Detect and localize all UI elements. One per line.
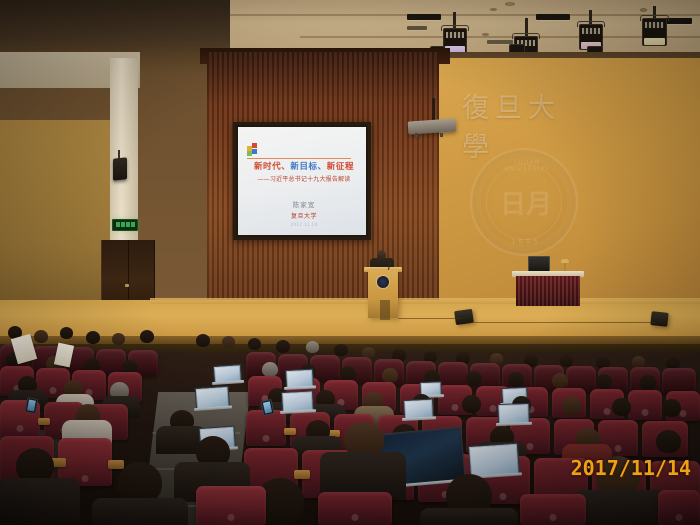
audience-head: [382, 368, 398, 383]
audience-laptop[interactable]: [403, 399, 432, 418]
stage-cable: [470, 322, 656, 323]
ceiling-beam: [0, 0, 230, 56]
auditorium-seat[interactable]: [196, 486, 266, 525]
projector-foot: [415, 133, 418, 137]
exit-sign-led: [116, 222, 120, 227]
audience-head: [196, 334, 210, 347]
audience-head: [140, 330, 154, 343]
audience-head: [596, 374, 612, 389]
light-barn-door: [645, 22, 664, 28]
seat-armrest: [38, 418, 50, 425]
audience-head: [662, 399, 681, 417]
audience-head: [34, 330, 48, 343]
audience-head: [466, 371, 482, 386]
wood-side-wall: [0, 120, 110, 330]
stage-apron: [150, 298, 700, 304]
audience-head: [562, 397, 581, 415]
podium-cable: [380, 300, 390, 320]
audience-head: [462, 395, 481, 413]
exit-sign-led: [131, 222, 135, 227]
slide-title-part-3: 新征程: [327, 160, 354, 172]
ceiling-vent: [407, 14, 441, 20]
audience-head: [612, 398, 631, 416]
podium-emblem: [377, 276, 389, 288]
exit-sign-led: [121, 222, 125, 227]
seal-top-text: FUDAN UNIVERSITY: [492, 159, 562, 173]
audience-body: [92, 498, 188, 525]
audience-head: [248, 338, 261, 350]
light-yoke: [441, 25, 469, 31]
slide-logo-icon: [247, 143, 259, 155]
slide-organization: 复旦大学: [243, 211, 365, 220]
presenter-head: [377, 250, 386, 260]
auditorium-photo: 復旦大學 FUDAN UNIVERSITY 1905 日月: [0, 0, 700, 525]
seat-armrest: [284, 428, 296, 435]
exit-sign-led: [126, 222, 130, 227]
stage-light-fixture: [642, 18, 667, 46]
audience-laptop[interactable]: [420, 381, 440, 395]
audience-head: [656, 430, 681, 453]
slide-title-part-1: 新时代、: [254, 160, 290, 172]
audience-laptop[interactable]: [285, 369, 312, 387]
slide-footer-date: 2017.11.14: [243, 222, 365, 227]
camera-timestamp: 2017/11/14: [571, 456, 691, 480]
seal-center-characters: 日月: [500, 184, 552, 221]
slide-subtitle: ——习近平总书记十九大报告解读: [243, 174, 365, 183]
light-yoke: [577, 21, 605, 27]
table-skirt: [516, 276, 580, 306]
audience-body: [420, 508, 518, 525]
audience-head: [60, 327, 73, 339]
ceiling-downlight: [640, 8, 647, 12]
audience-head: [112, 333, 125, 345]
projector-foot: [440, 133, 443, 137]
projector-mount-rod: [432, 98, 435, 122]
audience-body: [0, 478, 80, 525]
slide-title-part-2: 新目标、: [290, 160, 326, 172]
door-handle[interactable]: [125, 284, 129, 287]
ceiling-downlight: [505, 2, 515, 6]
slide-divider: [247, 158, 351, 159]
ceiling-vent: [407, 26, 427, 30]
audience-laptop[interactable]: [195, 386, 228, 408]
slide-title: 新时代、新目标、新征程: [245, 160, 363, 172]
slide-presenter-name: 陈家宽: [243, 199, 365, 209]
seat-armrest: [294, 470, 310, 479]
audience-head: [306, 341, 319, 353]
audience-head: [222, 336, 235, 348]
ceiling-downlight: [482, 33, 489, 36]
ceiling-downlight: [490, 8, 497, 11]
audience-head: [640, 375, 656, 390]
seal-year-text: 1905: [504, 238, 548, 246]
audience-head: [334, 344, 348, 356]
table-lamp-stem: [564, 262, 566, 271]
audience-body: [572, 490, 666, 525]
stage-cable: [398, 318, 462, 319]
ceiling-seam: [300, 36, 700, 38]
wall-mounted-speaker: [113, 157, 127, 180]
auditorium-seat[interactable]: [658, 490, 700, 525]
light-yoke: [640, 15, 669, 21]
auditorium-seat[interactable]: [318, 492, 392, 525]
ceiling-seam: [230, 14, 700, 16]
audience-head: [508, 372, 524, 387]
wall-characters: 復旦大學: [462, 86, 582, 128]
light-yoke: [512, 33, 540, 39]
audience-laptop[interactable]: [497, 403, 528, 423]
seat-armrest: [108, 460, 124, 469]
audience-head: [276, 340, 290, 353]
ceiling-vent: [536, 14, 570, 20]
auditorium-seat[interactable]: [628, 390, 662, 420]
projection-screen: 新时代、新目标、新征程 ——习近平总书记十九大报告解读 陈家宽 复旦大学 201…: [238, 127, 366, 235]
exit-sign: [112, 219, 138, 231]
audience-head: [552, 373, 568, 388]
projection-screen-frame: 新时代、新目标、新征程 ——习近平总书记十九大报告解读 陈家宽 复旦大学 201…: [233, 122, 371, 240]
table-lamp: [561, 259, 569, 263]
light-barn-door: [582, 28, 600, 34]
fudan-seal: FUDAN UNIVERSITY 1905 日月: [470, 148, 578, 256]
auditorium-seat[interactable]: [520, 494, 586, 525]
light-lens: [644, 38, 665, 45]
audience-head: [86, 331, 100, 344]
audience-head: [340, 366, 356, 381]
floor-monitor-speaker: [650, 311, 668, 327]
light-barn-door: [446, 32, 464, 38]
audience-head: [262, 362, 278, 377]
audience-laptop[interactable]: [281, 390, 312, 411]
side-table: [516, 276, 580, 306]
audience-laptop[interactable]: [213, 364, 240, 382]
audience-laptop[interactable]: [468, 443, 518, 476]
